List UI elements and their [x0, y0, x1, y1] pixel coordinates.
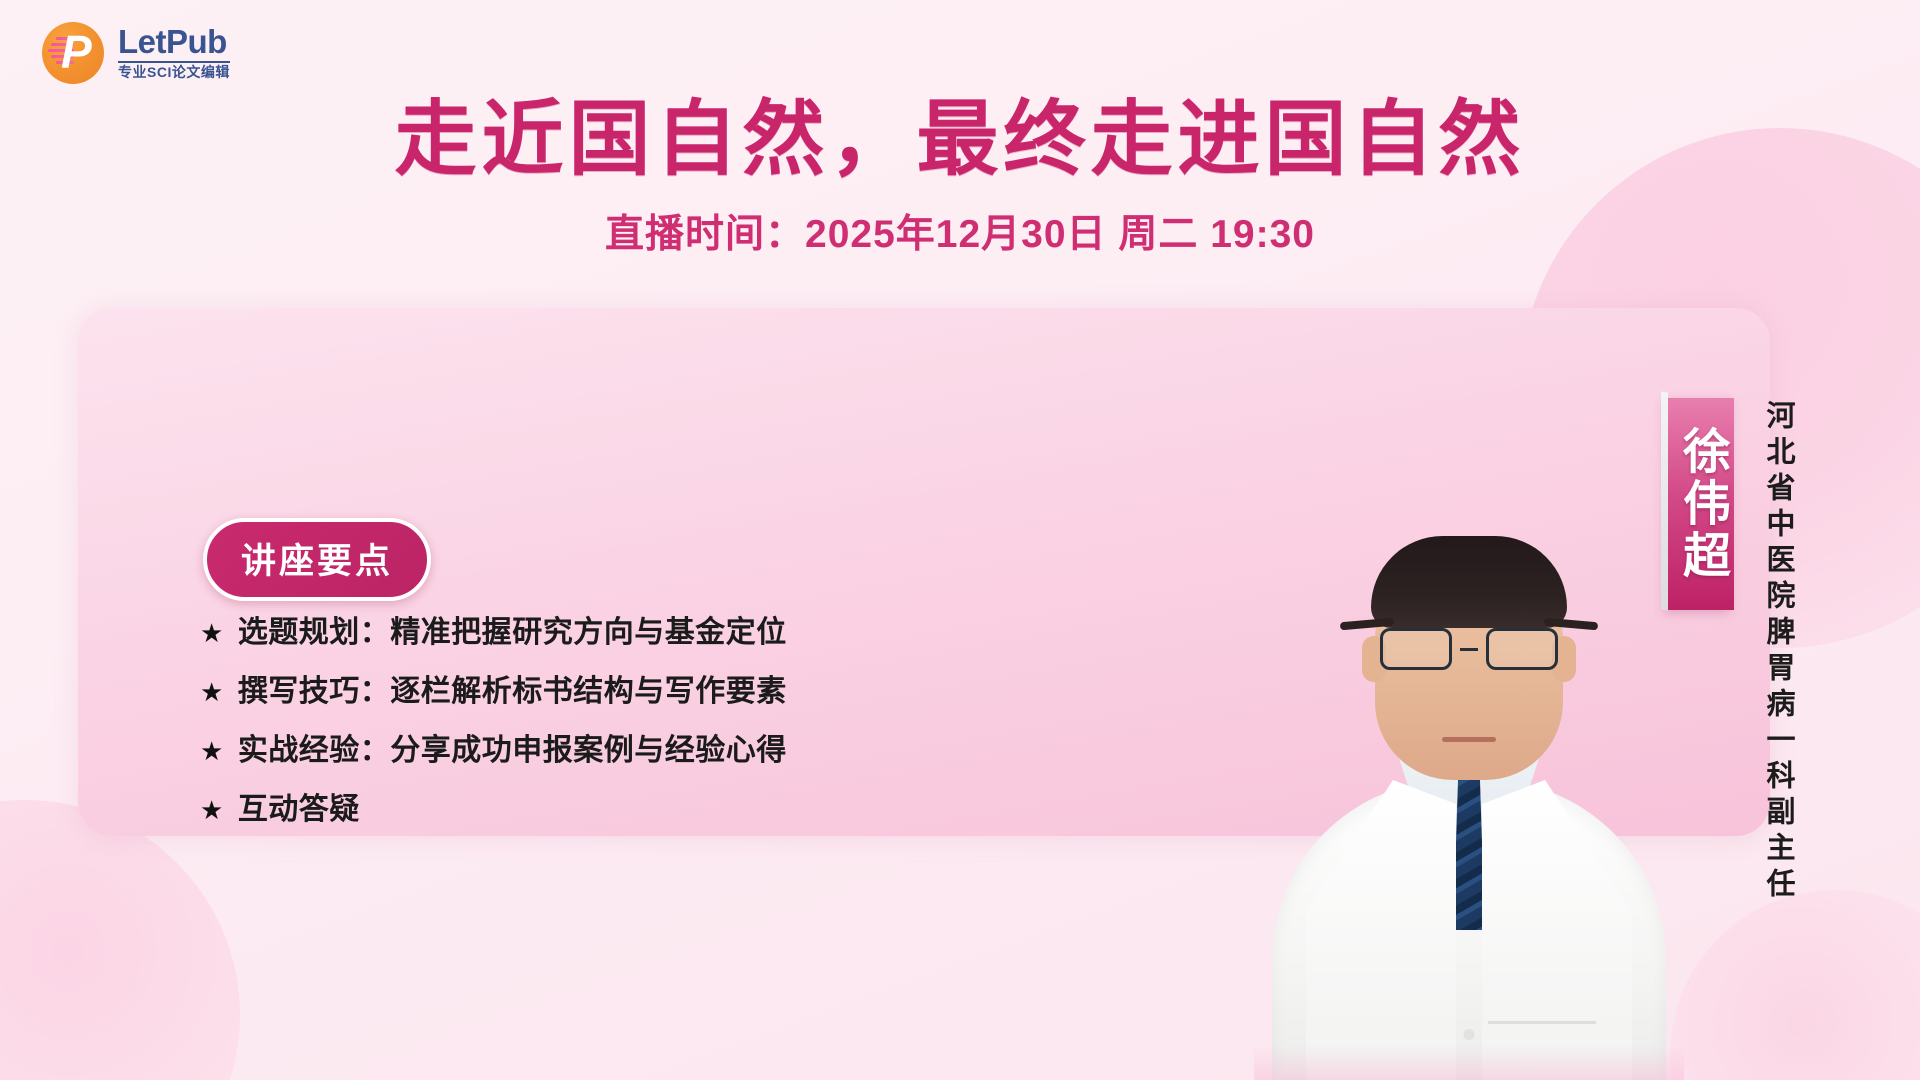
portrait-bottom-fade	[1254, 1046, 1684, 1080]
speaker-name: 徐伟超	[1666, 426, 1736, 582]
list-item-label: 实战经验：分享成功申报案例与经验心得	[238, 734, 787, 767]
letpub-p-logo-icon: P	[42, 22, 104, 84]
highlights-list: ★ 选题规划：精准把握研究方向与基金定位 ★ 撰写技巧：逐栏解析标书结构与写作要…	[200, 616, 787, 826]
portrait-coat-pocket	[1488, 1021, 1596, 1024]
portrait-lapel-right	[1482, 780, 1632, 1080]
portrait-coat-button	[1464, 1029, 1475, 1040]
speaker-portrait-icon	[1254, 440, 1684, 1080]
letter-p-glyph: P	[61, 29, 91, 75]
list-item: ★ 实战经验：分享成功申报案例与经验心得	[200, 734, 787, 767]
speaker-affiliation: 河北省中医院脾胃病一科副主任	[1763, 400, 1792, 904]
page-title: 走近国自然，最终走进国自然	[0, 92, 1920, 189]
list-item: ★ 撰写技巧：逐栏解析标书结构与写作要素	[200, 675, 787, 708]
background-circle-bottom-left	[0, 800, 240, 1080]
star-icon: ★	[200, 797, 224, 823]
list-item-label: 撰写技巧：逐栏解析标书结构与写作要素	[238, 675, 787, 708]
portrait-lapel-left	[1306, 780, 1456, 1080]
glasses-lens-right	[1486, 628, 1558, 670]
list-item-label: 选题规划：精准把握研究方向与基金定位	[238, 616, 787, 649]
logo-divider	[118, 61, 230, 63]
brand-name: LetPub	[118, 25, 227, 60]
list-item: ★ 互动答疑	[200, 793, 787, 826]
star-icon: ★	[200, 679, 224, 705]
portrait-hair	[1371, 536, 1567, 628]
section-badge: 讲座要点	[203, 518, 431, 601]
list-item: ★ 选题规划：精准把握研究方向与基金定位	[200, 616, 787, 649]
list-item-label: 互动答疑	[238, 793, 360, 826]
portrait-glasses-icon	[1380, 626, 1558, 672]
glasses-bridge	[1460, 648, 1478, 651]
portrait-mouth	[1442, 737, 1496, 742]
letpub-logo[interactable]: P LetPub 专业SCI论文编辑	[42, 22, 230, 84]
glasses-lens-left	[1380, 628, 1452, 670]
brand-tagline: 专业SCI论文编辑	[118, 65, 230, 80]
webinar-poster: P LetPub 专业SCI论文编辑 走近国自然，最终走进国自然 直播时间：20…	[0, 0, 1920, 1080]
logo-wordmark: LetPub 专业SCI论文编辑	[118, 25, 230, 80]
speaker-name-ribbon: 徐伟超	[1668, 398, 1734, 610]
background-circle-bottom-right	[1670, 890, 1920, 1080]
broadcast-time: 直播时间：2025年12月30日 周二 19:30	[0, 203, 1920, 259]
headline-block: 走近国自然，最终走进国自然 直播时间：2025年12月30日 周二 19:30	[0, 92, 1920, 259]
star-icon: ★	[200, 620, 224, 646]
star-icon: ★	[200, 738, 224, 764]
